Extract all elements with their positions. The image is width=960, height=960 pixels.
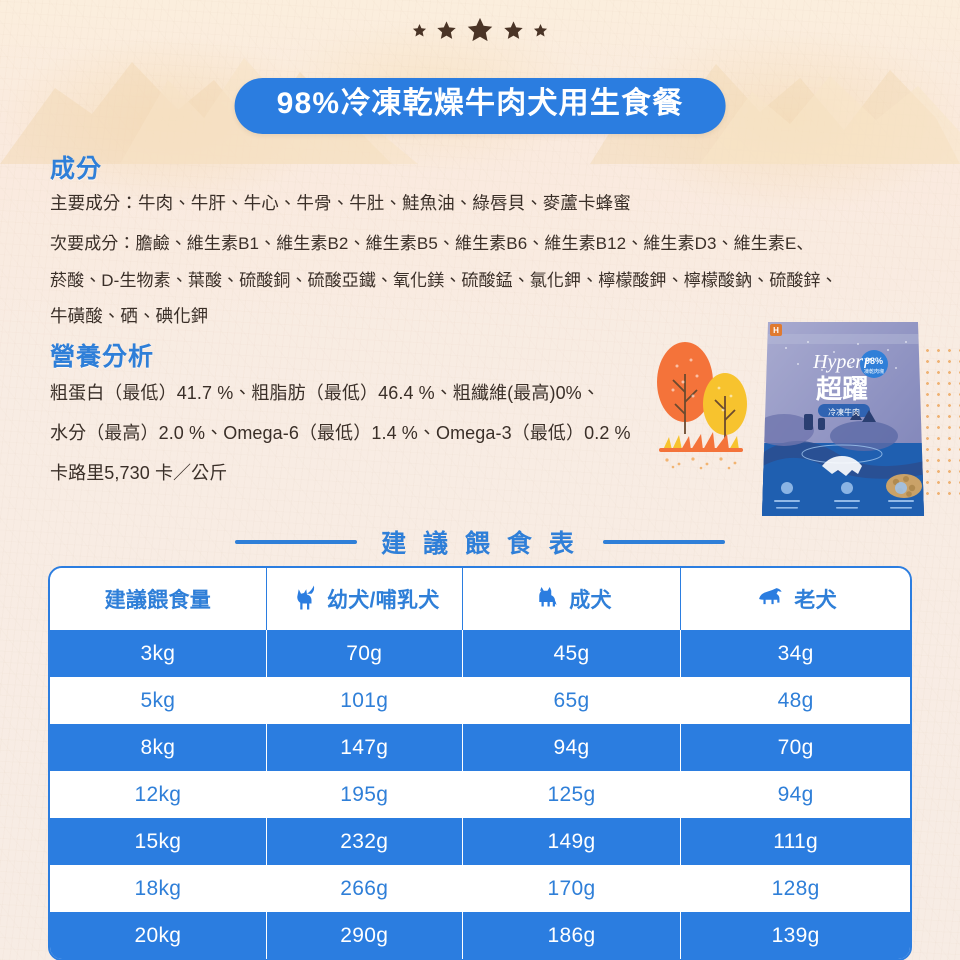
star-icon — [503, 20, 524, 41]
heading-rule-left — [235, 540, 357, 544]
package-brand: Hyperr — [812, 351, 871, 373]
star-rating-decoration — [0, 16, 960, 44]
feeding-table-title: 建 議 餵 食 表 — [381, 524, 579, 560]
star-icon — [466, 16, 494, 44]
cell-senior: 48g — [681, 677, 910, 724]
feeding-table-heading: 建 議 餵 食 表 — [0, 524, 960, 560]
table-row: 15kg 232g 149g 111g — [50, 818, 910, 865]
column-header-adult-label: 成犬 — [569, 584, 612, 614]
cell-senior: 94g — [681, 771, 910, 818]
cell-senior: 139g — [681, 912, 910, 959]
ingredients-line: 菸酸、D-生物素、葉酸、硫酸銅、硫酸亞鐵、氧化鎂、硫酸錳、氯化鉀、檸檬酸鉀、檸檬… — [50, 266, 838, 291]
cell-weight: 20kg — [50, 912, 267, 959]
feeding-table: 建議餵食量 幼犬/哺乳犬 成犬 — [48, 566, 912, 960]
column-header-senior: 老犬 — [681, 568, 910, 630]
cell-weight: 12kg — [50, 771, 267, 818]
table-row: 5kg 101g 65g 48g — [50, 677, 910, 724]
package-brand-cn: 超躍 — [816, 374, 868, 404]
nutrition-heading: 營養分析 — [50, 337, 154, 373]
table-row: 3kg 70g 45g 34g — [50, 630, 910, 677]
cell-puppy: 70g — [267, 630, 463, 677]
nutrition-line: 粗蛋白（最低）41.7 %、粗脂肪（最低）46.4 %、粗纖維(最高)0%、 — [50, 379, 600, 405]
table-row: 12kg 195g 125g 94g — [50, 771, 910, 818]
cell-adult: 149g — [463, 818, 681, 865]
cell-weight: 5kg — [50, 677, 267, 724]
package-percent-badge-sub: 凍乾肉塊 — [864, 368, 884, 375]
puppy-dog-icon — [289, 584, 319, 614]
cell-senior: 128g — [681, 865, 910, 912]
column-header-puppy: 幼犬/哺乳犬 — [267, 568, 463, 630]
heading-rule-right — [603, 540, 725, 544]
cell-adult: 65g — [463, 677, 681, 724]
package-percent-badge: 98% — [865, 356, 883, 366]
cell-puppy: 101g — [267, 677, 463, 724]
page-title: 98%冷凍乾燥牛肉犬用生食餐 — [277, 85, 684, 123]
package-flavour-badge: 冷凍牛肉 — [828, 407, 860, 417]
column-header-weight: 建議餵食量 — [50, 568, 267, 630]
cell-adult: 186g — [463, 912, 681, 959]
table-header-row: 建議餵食量 幼犬/哺乳犬 成犬 — [50, 568, 910, 630]
cell-adult: 45g — [463, 630, 681, 677]
nutrition-line: 卡路里5,730 卡／公斤 — [50, 459, 227, 485]
nutrition-line: 水分（最高）2.0 %、Omega-6（最低）1.4 %、Omega-3（最低）… — [50, 419, 631, 445]
cell-adult: 94g — [463, 724, 681, 771]
star-icon — [412, 23, 427, 38]
ingredients-line: 主要成分：牛肉、牛肝、牛心、牛骨、牛肚、鮭魚油、綠唇貝、麥蘆卡蜂蜜 — [50, 190, 631, 215]
table-row: 20kg 290g 186g 139g — [50, 912, 910, 959]
cell-puppy: 290g — [267, 912, 463, 959]
column-header-weight-label: 建議餵食量 — [105, 584, 212, 614]
cell-senior: 34g — [681, 630, 910, 677]
cell-puppy: 147g — [267, 724, 463, 771]
senior-dog-icon — [754, 584, 786, 614]
product-title-banner: 98%冷凍乾燥牛肉犬用生食餐 — [235, 78, 726, 134]
star-icon — [436, 20, 457, 41]
star-icon — [533, 23, 548, 38]
cell-weight: 18kg — [50, 865, 267, 912]
cell-senior: 111g — [681, 818, 910, 865]
cell-weight: 3kg — [50, 630, 267, 677]
ingredients-line: 次要成分：膽鹼、維生素B1、維生素B2、維生素B5、維生素B6、維生素B12、維… — [50, 229, 814, 254]
column-header-senior-label: 老犬 — [794, 584, 837, 614]
cell-puppy: 195g — [267, 771, 463, 818]
product-package-image: Hyperr 超躍 冷凍牛肉 98% 凍乾肉塊 H — [746, 308, 942, 523]
package-corner-logo: H — [773, 326, 779, 335]
cell-puppy: 266g — [267, 865, 463, 912]
cell-adult: 125g — [463, 771, 681, 818]
column-header-adult: 成犬 — [463, 568, 681, 630]
cell-weight: 8kg — [50, 724, 267, 771]
table-row: 8kg 147g 94g 70g — [50, 724, 910, 771]
cell-puppy: 232g — [267, 818, 463, 865]
cell-adult: 170g — [463, 865, 681, 912]
ingredients-heading: 成分 — [50, 149, 102, 185]
cell-weight: 15kg — [50, 818, 267, 865]
ingredients-line: 牛磺酸、硒、碘化鉀 — [50, 303, 208, 328]
cell-senior: 70g — [681, 724, 910, 771]
adult-dog-icon — [531, 584, 561, 614]
table-row: 18kg 266g 170g 128g — [50, 865, 910, 912]
product-info-page: 98%冷凍乾燥牛肉犬用生食餐 成分 主要成分：牛肉、牛肝、牛心、牛骨、牛肚、鮭魚… — [0, 0, 960, 960]
column-header-puppy-label: 幼犬/哺乳犬 — [327, 584, 440, 614]
